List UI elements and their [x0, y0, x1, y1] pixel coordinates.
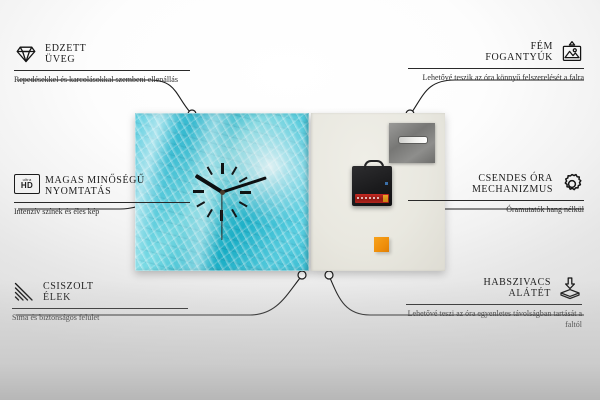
leader-dot-foam	[325, 271, 333, 279]
diamond-icon	[14, 42, 38, 66]
feature-title: MAGAS MINŐSÉGŰ NYOMTATÁS	[45, 175, 145, 198]
feature-divider	[406, 304, 582, 305]
feature-head: FÉM FOGANTYÚK	[408, 40, 584, 64]
feature-divider	[12, 308, 188, 309]
feature-head: ultra HD MAGAS MINŐSÉGŰ NYOMTATÁS	[14, 174, 190, 198]
mechanism-hook	[364, 160, 384, 170]
feature-head: HABSZIVACS ALÁTÉT	[406, 276, 582, 300]
metal-hanger-plate	[389, 123, 435, 163]
mechanism-dot	[385, 182, 388, 185]
feature-divider	[14, 70, 190, 71]
battery	[355, 194, 389, 203]
foam-pad	[374, 237, 389, 252]
feature-foam-pad: HABSZIVACS ALÁTÉT Lehetővé teszi az óra …	[406, 276, 582, 330]
feature-title: FÉM FOGANTYÚK	[485, 41, 553, 64]
ultra-hd-badge-icon: ultra HD	[14, 174, 38, 198]
feature-description: Óramutatók hang nélkül	[408, 205, 584, 216]
feature-head: CSISZOLT ÉLEK	[12, 280, 188, 304]
feature-description: Lehetővé teszi az óra egyenletes távolsá…	[406, 309, 582, 330]
clock-mechanism-box	[352, 166, 392, 206]
feature-title: CSISZOLT ÉLEK	[43, 281, 94, 304]
feature-description: Lehetővé teszik az óra könnyű felszerelé…	[408, 73, 584, 84]
feature-description: Sima és biztonságos felület	[12, 313, 188, 324]
feature-divider	[408, 200, 584, 201]
feature-high-quality-print: ultra HD MAGAS MINŐSÉGŰ NYOMTATÁS Intenz…	[14, 174, 190, 218]
feature-description: Intenzív színek és éles kép	[14, 207, 190, 218]
leader-line-handles	[412, 80, 584, 112]
feature-head: CSENDES ÓRA MECHANIZMUS	[408, 172, 584, 196]
feature-title: HABSZIVACS ALÁTÉT	[484, 277, 552, 300]
feature-metal-handles: FÉM FOGANTYÚK Lehetővé teszik az óra kön…	[408, 40, 584, 84]
framed-picture-icon	[560, 40, 584, 64]
press-down-layers-icon	[558, 276, 582, 300]
feature-description: Repedésekkel és karcolásokkal szembeni e…	[14, 75, 190, 86]
feature-title: CSENDES ÓRA MECHANIZMUS	[472, 173, 553, 196]
leader-dot-edges	[298, 271, 306, 279]
hatch-lines-icon	[12, 280, 36, 304]
feature-polished-edges: CSISZOLT ÉLEK Sima és biztonságos felüle…	[12, 280, 188, 324]
infographic-stage: EDZETT ÜVEG Repedésekkel és karcolásokka…	[0, 0, 600, 400]
feature-quiet-mechanism: CSENDES ÓRA MECHANIZMUS Óramutatók hang …	[408, 172, 584, 216]
hanger-slot	[398, 136, 428, 144]
feature-title: EDZETT ÜVEG	[45, 43, 86, 66]
feature-tempered-glass: EDZETT ÜVEG Repedésekkel és karcolásokka…	[14, 42, 190, 86]
feature-divider	[14, 202, 190, 203]
feature-head: EDZETT ÜVEG	[14, 42, 190, 66]
feature-divider	[408, 68, 584, 69]
gear-icon	[560, 172, 584, 196]
